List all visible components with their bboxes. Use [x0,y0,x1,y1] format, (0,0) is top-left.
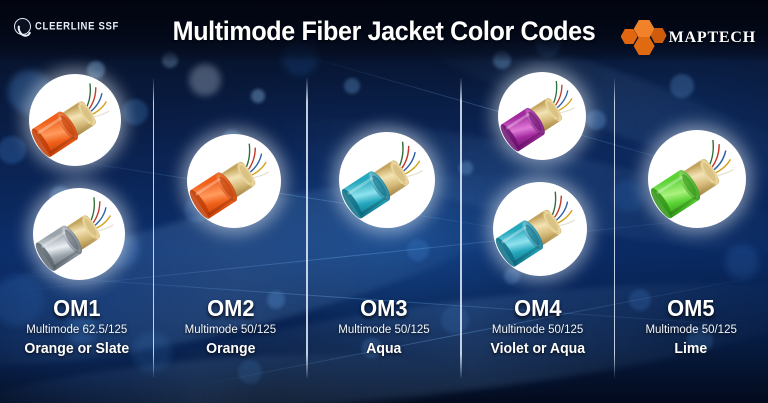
cable-images [614,62,768,287]
jacket-color-label: Aqua [309,339,458,360]
aqua-fiber-cable [493,182,587,276]
fiber-grade-column-om3: OM3Multimode 50/125Aqua [307,62,461,403]
cable-images [154,62,308,287]
fiber-mode-spec: Multimode 50/125 [461,322,615,339]
orange-fiber-cable-bubble[interactable] [187,134,281,228]
violet-fiber-cable-bubble[interactable] [498,72,586,160]
fiber-grade-column-om4: OM4Multimode 50/125Violet or Aqua [461,62,615,403]
lime-fiber-cable [648,130,746,228]
fiber-grade-columns: OM1Multimode 62.5/125Orange or SlateOM2M… [0,62,768,403]
violet-fiber-cable [498,72,586,160]
aqua-fiber-cable-bubble[interactable] [339,132,435,228]
column-divider [460,78,462,378]
cable-images [0,62,154,287]
lime-fiber-cable-bubble[interactable] [648,130,746,228]
fiber-grade-labels: OM3Multimode 50/125Aqua [307,296,461,360]
fiber-grade-id: OM2 [157,296,303,322]
jacket-color-label: Orange [156,339,305,360]
column-divider [306,78,308,378]
infographic-poster: CLEERLINE SSF Multimode Fiber Jacket Col… [0,0,768,403]
cable-images [307,62,461,287]
fiber-grade-labels: OM2Multimode 50/125Orange [154,296,308,360]
maptech-logo: MAPTECH [621,20,756,56]
orange-fiber-cable [29,74,121,166]
fiber-grade-labels: OM1Multimode 62.5/125Orange or Slate [0,296,154,360]
fiber-grade-id: OM4 [465,296,611,322]
jacket-color-label: Lime [617,339,766,360]
jacket-color-label: Violet or Aqua [463,339,612,360]
aqua-fiber-cable [339,132,435,228]
column-divider [614,78,616,378]
maptech-logo-text: MAPTECH [669,29,756,47]
fiber-grade-labels: OM4Multimode 50/125Violet or Aqua [461,296,615,360]
cable-images [461,62,615,287]
column-divider [153,78,155,378]
fiber-grade-id: OM3 [311,296,457,322]
fiber-mode-spec: Multimode 62.5/125 [0,322,154,339]
jacket-color-label: Orange or Slate [2,339,151,360]
aqua-fiber-cable-bubble[interactable] [493,182,587,276]
fiber-grade-id: OM1 [4,296,150,322]
slate-fiber-cable-bubble[interactable] [33,188,125,280]
fiber-grade-id: OM5 [618,296,764,322]
slate-fiber-cable [33,188,125,280]
fiber-grade-column-om5: OM5Multimode 50/125Lime [614,62,768,403]
hexagon-cluster-icon [621,20,667,56]
orange-fiber-cable [187,134,281,228]
fiber-mode-spec: Multimode 50/125 [307,322,461,339]
fiber-mode-spec: Multimode 50/125 [614,322,768,339]
fiber-mode-spec: Multimode 50/125 [154,322,308,339]
orange-fiber-cable-bubble[interactable] [29,74,121,166]
fiber-grade-labels: OM5Multimode 50/125Lime [614,296,768,360]
fiber-grade-column-om2: OM2Multimode 50/125Orange [154,62,308,403]
header-bar: CLEERLINE SSF Multimode Fiber Jacket Col… [0,0,768,62]
fiber-grade-column-om1: OM1Multimode 62.5/125Orange or Slate [0,62,154,403]
